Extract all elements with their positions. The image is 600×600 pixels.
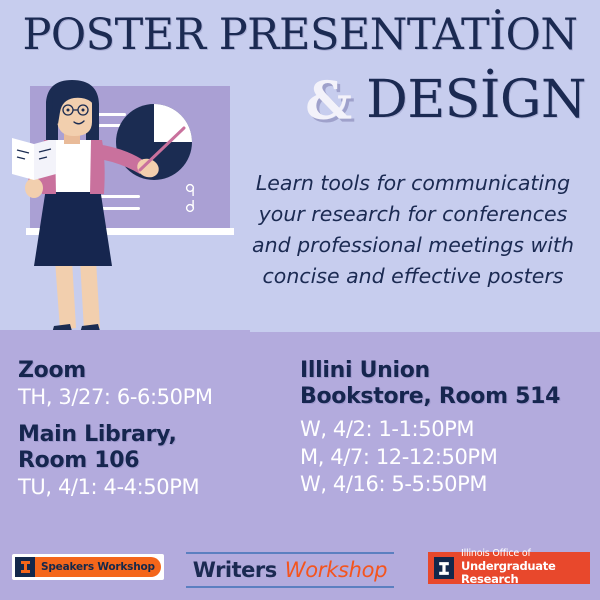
paper-handout xyxy=(12,138,56,180)
footer-logo-bar: Speakers Workshop Writers Workshop Illin… xyxy=(0,552,600,600)
ampersand-glyph: & xyxy=(305,71,352,132)
session-time: TU, 4/1: 4-4:50PM xyxy=(18,474,303,502)
logo-writers-workshop[interactable]: Writers Workshop xyxy=(186,552,394,588)
poster-flyer: POSTER PRESENTATİON &DESİGN xyxy=(0,0,600,600)
illinois-block-i-icon xyxy=(434,557,454,579)
logo-writers-word: Writers xyxy=(193,558,277,582)
subtitle-line: concise and effective posters xyxy=(232,261,594,292)
board-glyph xyxy=(192,188,193,196)
leg-left xyxy=(55,260,76,330)
logo-speakers-workshop-label: Speakers Workshop xyxy=(41,557,155,577)
logo-unit-line: Undergraduate Research xyxy=(461,560,590,586)
poster-title: POSTER PRESENTATİON &DESİGN xyxy=(0,14,600,58)
session-time: W, 4/16: 5-5:50PM xyxy=(300,471,590,499)
schedule-column-right: Illini Union Bookstore, Room 514 W, 4/2:… xyxy=(300,358,590,499)
leg-right xyxy=(80,260,100,330)
session-time: M, 4/7: 12-12:50PM xyxy=(300,444,590,472)
schedule-entry: Illini Union Bookstore, Room 514 W, 4/2:… xyxy=(300,358,590,499)
logo-undergrad-research-label: Illinois Office of Undergraduate Researc… xyxy=(461,549,590,586)
skirt xyxy=(34,188,112,266)
subtitle-line: your research for conferences xyxy=(232,199,594,230)
venue-name: Main Library, xyxy=(18,422,303,448)
title-line-2: &DESİGN xyxy=(0,74,600,128)
title-design-word: DESİGN xyxy=(366,70,586,130)
hand-left xyxy=(25,178,43,198)
board-glyph xyxy=(192,200,193,208)
subtitle-line: Learn tools for communicating xyxy=(232,168,594,199)
schedule-entry: Zoom TH, 3/27: 6-6:50PM xyxy=(18,358,303,412)
venue-name-line2: Room 106 xyxy=(18,448,303,474)
venue-name: Zoom xyxy=(18,358,303,384)
blouse xyxy=(50,140,96,192)
venue-name: Illini Union xyxy=(300,358,590,384)
title-line-1: POSTER PRESENTATİON xyxy=(0,14,600,58)
subtitle-line: and professional meetings with xyxy=(232,230,594,261)
logo-speakers-workshop[interactable]: Speakers Workshop xyxy=(12,554,164,580)
logo-workshop-word: Workshop xyxy=(285,558,387,582)
session-time: TH, 3/27: 6-6:50PM xyxy=(18,384,303,412)
subtitle-text: Learn tools for communicating your resea… xyxy=(232,168,594,293)
session-time: W, 4/2: 1-1:50PM xyxy=(300,416,590,444)
illinois-block-i-icon xyxy=(15,557,35,577)
schedule-entry: Main Library, Room 106 TU, 4/1: 4-4:50PM xyxy=(18,422,303,502)
venue-name-line2: Bookstore, Room 514 xyxy=(300,384,590,410)
schedule-column-left: Zoom TH, 3/27: 6-6:50PM Main Library, Ro… xyxy=(18,358,303,501)
logo-undergraduate-research[interactable]: Illinois Office of Undergraduate Researc… xyxy=(428,552,590,584)
